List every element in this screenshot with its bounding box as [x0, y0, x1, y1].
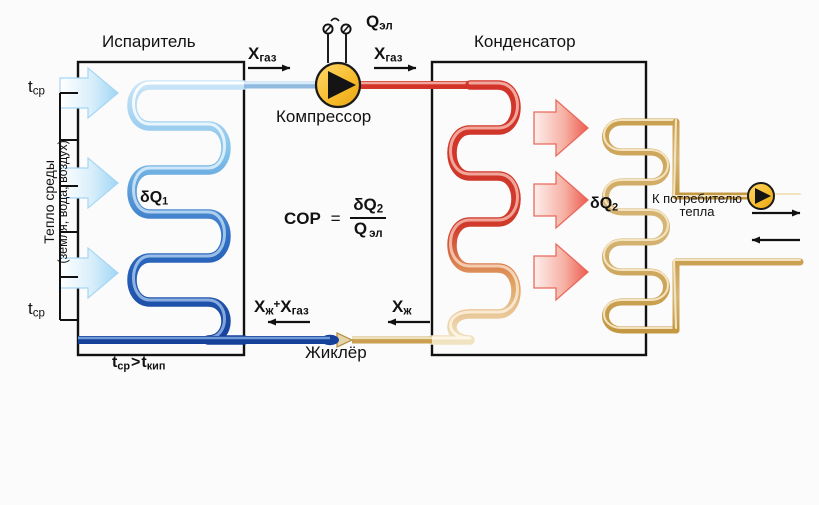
environment-heat-label: Тепло среды (земля, вода, воздух) [42, 102, 70, 302]
liquid-return-line [78, 333, 432, 347]
condenser-secondary-coil [604, 120, 676, 330]
x-mix-symbol1: X [254, 297, 265, 316]
compressor-electrical-terminals [323, 19, 350, 64]
t-sr-top-subscript: ср [33, 86, 45, 98]
suction-line-to-compressor [244, 83, 322, 85]
t-compare-operator: > [131, 354, 140, 371]
x-gas-in-label: Xгаз [248, 45, 276, 65]
q-el-subscript: эл [379, 21, 392, 33]
schematic-diagram: Испаритель Конденсатор Компрессор Жиклёр… [0, 0, 819, 380]
q-el-label: Qэл [366, 13, 393, 33]
condenser-heat-arrows [534, 100, 588, 300]
x-gas-in-symbol: X [248, 44, 259, 63]
evaporator-title: Испаритель [102, 33, 196, 50]
compressor-label: Компрессор [276, 108, 371, 125]
t-sr-bottom-label: tср [28, 300, 45, 320]
cop-denominator-subscript: эл [369, 228, 382, 240]
t-comparison-label: tср>tкип [112, 355, 165, 372]
delta-q2-label: δQ2 [590, 196, 618, 213]
cop-numerator: δQ [353, 195, 377, 214]
t-compare-sub2: кип [147, 360, 166, 372]
ac-tilde-icon [331, 19, 339, 22]
x-gas-in-subscript: газ [259, 53, 276, 65]
environment-heat-line1: Тепло среды [41, 160, 57, 244]
t-sr-bottom-subscript: ср [33, 308, 45, 320]
cop-denominator: Q [354, 219, 367, 238]
heat-pump-diagram-page: Испаритель Конденсатор Компрессор Жиклёр… [0, 0, 819, 505]
caption-area: Рис. 1. СХЕМА РАБОТЫ ТЕПЛОВОГО НАСОСА: t… [0, 380, 819, 505]
x-mixture-label: Xж+Xгаз [254, 298, 309, 318]
delta-q1-symbol: δQ [140, 189, 162, 206]
environment-heat-line2: (земля, вода, воздух) [57, 102, 70, 302]
condenser-primary-coil [432, 83, 518, 340]
t-compare-sub1: ср [117, 360, 130, 372]
cop-numerator-subscript: 2 [377, 204, 383, 216]
x-liquid-subscript: ж [403, 306, 411, 318]
cop-equals: = [331, 210, 341, 227]
q-el-symbol: Q [366, 12, 379, 31]
x-mix-sub1: ж [265, 306, 273, 318]
delta-q2-symbol: δQ [590, 195, 612, 212]
x-liquid-label: Xж [392, 298, 412, 318]
nozzle-label: Жиклёр [305, 344, 367, 361]
t-sr-top-label: tср [28, 78, 45, 98]
cop-denominator-group: Qэл [350, 217, 386, 240]
evaporator-coil [132, 83, 244, 340]
x-mix-sub2: газ [292, 306, 309, 318]
cop-numerator-group: δQ2 [350, 196, 386, 217]
schematic-svg [0, 0, 819, 380]
consumer-label: К потребителю тепла [652, 192, 742, 218]
delta-q1-label: δQ1 [140, 190, 168, 207]
cop-formula: COP = δQ2 Qэл [284, 196, 386, 240]
delta-q2-subscript: 2 [612, 201, 618, 213]
x-mix-symbol2: X [280, 297, 291, 316]
x-liquid-symbol: X [392, 297, 403, 316]
circulation-pump[interactable] [748, 183, 774, 209]
x-gas-out-subscript: газ [385, 53, 402, 65]
x-gas-out-symbol: X [374, 44, 385, 63]
consumer-piping [674, 120, 800, 330]
compressor[interactable] [316, 63, 360, 107]
delta-q1-subscript: 1 [162, 195, 168, 207]
cop-fraction: δQ2 Qэл [350, 196, 386, 240]
consumer-label-line2: тепла [680, 204, 715, 219]
cop-label: COP [284, 210, 321, 227]
condenser-title: Конденсатор [474, 33, 576, 50]
x-gas-out-label: Xгаз [374, 45, 402, 65]
